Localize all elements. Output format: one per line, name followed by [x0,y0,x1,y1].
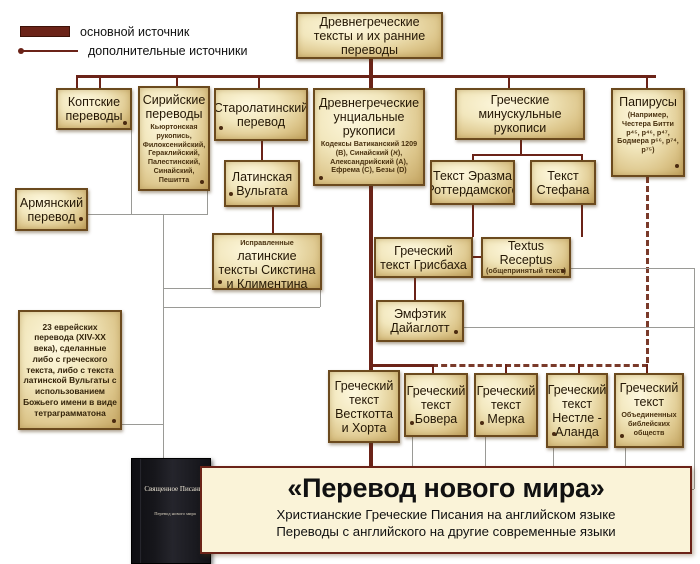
diagram-canvas: основной источник дополнительные источни… [0,0,700,564]
banner-line-2: Переводы с английского на другие совреме… [202,524,690,539]
secondary-source-dot-icon [480,421,484,425]
legend-item-primary: основной источник [14,22,284,41]
connector-grey-corrected-right [320,288,321,307]
secondary-source-dot-icon [229,192,233,196]
legend-label-secondary: дополнительные источники [88,44,247,58]
node-label: Латинская Вульгата [229,170,295,198]
secondary-source-dot-icon [552,432,556,436]
book-subtitle: Перевод нового мира [144,511,206,517]
connector-drop-minuscule [508,75,510,88]
connector-drop-uncial [369,75,373,88]
connector-bottom-dashed-bus [432,364,648,367]
node-westcott-hort[interactable]: Греческий текст Весткотта и Хорта [328,370,400,443]
node-merk[interactable]: Греческий текст Мерка [474,373,538,437]
connector-grey-hebrew [122,424,163,425]
secondary-source-dot-icon [112,419,116,423]
connector-vulgate-to-corrected [272,207,274,233]
node-label: Эмфэтик Дайаглотт [381,307,459,335]
connector-main-bus [76,75,656,78]
book-spine [140,459,142,563]
node-papyri[interactable]: Папирусы (Например, Честера Битти p⁴⁵, p… [611,88,685,177]
node-syriac[interactable]: Сирийские переводы Кьюртонская рукопись,… [138,86,210,191]
node-greek-uncial[interactable]: Древнегреческие унциальные рукописи Коде… [313,88,425,186]
connector-grey-syriac-down [207,190,208,214]
node-label: Греческий текст Нестле - Аланда [548,383,607,439]
node-label: Греческий текст Весткотта и Хорта [333,379,395,435]
book-title: Священное Писание [144,485,206,494]
connector-grey-main-vertical [163,214,164,489]
connector-grey-armenian-bus [88,214,208,215]
nwt-banner: «Перевод нового мира» Христианские Грече… [200,466,692,554]
secondary-source-dot-icon [319,176,323,180]
secondary-source-dot-icon [620,434,624,438]
node-label: Армянский перевод [20,196,83,224]
banner-line-1: Христианские Греческие Писания на англий… [202,507,690,522]
connector-drop-papyri [646,75,648,88]
node-ancient-greek-texts[interactable]: Древнегреческие тексты и их ранние перев… [296,12,443,59]
node-label: Текст Эразма Роттердамского [430,169,515,197]
primary-line-swatch-icon [20,26,70,37]
node-label: Греческий текст Грисбаха [379,244,468,272]
node-nestle-aland[interactable]: Греческий текст Нестле - Аланда [546,373,608,448]
connector-bottom-bus-solid [369,364,433,367]
connector-drop-coptic-left [76,75,78,88]
secondary-source-dot-icon [79,217,83,221]
node-griesbach[interactable]: Греческий текст Грисбаха [374,237,473,278]
secondary-source-dot-icon [123,121,127,125]
node-detail: Кодексы Ватиканский 1209 (B), Синайский … [318,140,420,175]
node-label: Греческий текст [619,381,679,409]
node-label: Коптские переводы [61,95,127,123]
legend-item-secondary: дополнительные источники [14,41,284,60]
secondary-source-dot-icon [561,269,565,273]
node-coptic[interactable]: Коптские переводы [56,88,132,130]
connector-grey-corrected-latin [163,288,211,289]
secondary-line-swatch-icon [22,50,78,52]
node-label: Древнегреческие тексты и их ранние перев… [301,15,438,57]
node-label: Греческий текст Мерка [477,384,536,426]
banner-title: «Перевод нового мира» [202,473,690,504]
connector-stephanus-down [581,205,583,237]
node-textus-receptus[interactable]: Textus Receptus (общепринятый текст) [481,237,571,278]
node-label: Сирийские переводы [143,93,206,121]
secondary-source-dot-icon [454,330,458,334]
secondary-source-dot-icon [675,164,679,168]
nwt-book-cover: Священное Писание Перевод нового мира [131,458,211,564]
connector-grey-merk-down [485,437,486,469]
connector-grey-corrected-wrap [163,307,320,308]
node-stephanus[interactable]: Текст Стефана [530,160,596,205]
node-label: Старолатинский перевод [214,101,308,129]
node-label: Текст Стефана [535,169,591,197]
node-vulgate[interactable]: Латинская Вульгата [224,160,300,207]
node-label: 23 еврейских перевода (XIV-XX века), сде… [23,322,117,419]
node-detail: (общепринятый текст) [486,267,566,276]
node-hebrew-versions[interactable]: 23 еврейских перевода (XIV-XX века), сде… [18,310,122,430]
node-label: латинские тексты Сикстина и Климентина [217,249,317,290]
connector-oldlatin-to-vulgate [261,141,263,160]
connector-minuscule-bus [472,154,582,156]
connector-griesbach-to-diaglott [414,278,416,300]
node-label-small: Исправленные [240,239,294,248]
node-label: Древнегреческие унциальные рукописи [318,96,420,138]
connector-erasmus-down [472,205,474,237]
node-corrected-latin[interactable]: Исправленные латинские тексты Сикстина и… [212,233,322,290]
node-armenian[interactable]: Армянский перевод [15,188,88,231]
node-detail: (Например, Честера Битти p⁴⁵, p⁴⁶, p⁴⁷, … [616,111,680,155]
node-greek-minuscule[interactable]: Греческие минускульные рукописи [455,88,585,140]
connector-uncial-to-westcott [369,186,373,374]
node-detail: Объединенных библейских обществ [619,411,679,437]
node-label: Папирусы [619,95,677,109]
secondary-source-dot-icon [410,421,414,425]
node-emphatic-diaglott[interactable]: Эмфэтик Дайаглотт [376,300,464,342]
connector-grey-tr-right [570,268,695,269]
connector-grey-right-margin [694,268,695,489]
connector-grey-coptic-down [131,129,132,214]
node-label: Греческие минускульные рукописи [460,93,580,135]
connector-minuscule-stem [520,140,522,155]
connector-westcott-to-banner [369,443,373,467]
node-bover[interactable]: Греческий текст Бовера [404,373,468,437]
secondary-source-dot-icon [218,280,222,284]
secondary-source-dot-icon [219,126,223,130]
node-erasmus[interactable]: Текст Эразма Роттердамского [430,160,515,205]
secondary-source-dot-icon [200,180,204,184]
node-detail: Кьюртонская рукопись, Филоксенийский, Ге… [143,123,206,184]
node-label: Textus Receptus [486,239,566,267]
connector-drop-oldlatin [258,75,260,88]
legend: основной источник дополнительные источни… [14,22,284,60]
legend-label-primary: основной источник [80,25,189,39]
node-old-latin[interactable]: Старолатинский перевод [214,88,308,141]
connector-drop-coptic [99,75,101,88]
node-ubs[interactable]: Греческий текст Объединенных библейских … [614,373,684,448]
node-label: Греческий текст Бовера [407,384,466,426]
connector-grey-diaglott-right [460,327,694,328]
connector-papyri-dashed [646,177,649,363]
connector-grey-bover-down [412,437,413,469]
